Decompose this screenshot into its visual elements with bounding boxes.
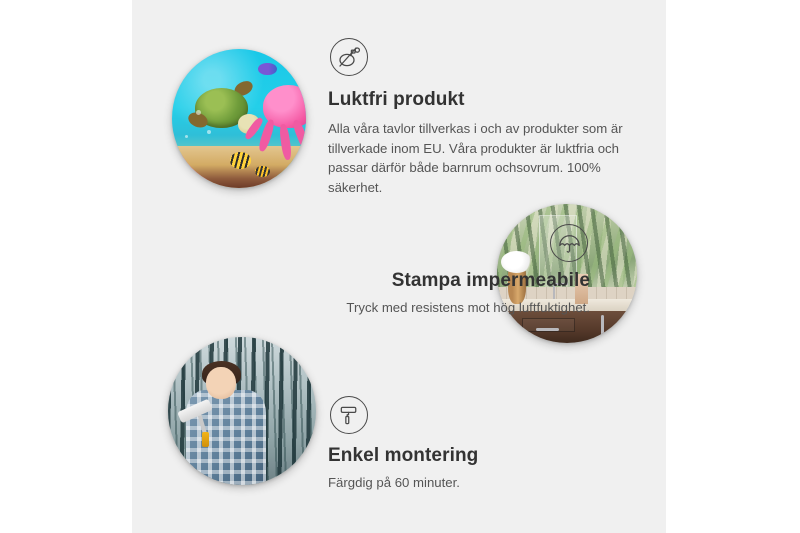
drawer-handle [536,328,558,331]
infographic-canvas: Luktfri produkt Alla våra tavlor tillver… [0,0,800,533]
feature-block-odorless: Luktfri produkt Alla våra tavlor tillver… [328,38,628,197]
feature-title: Enkel montering [328,445,608,467]
feature-title: Stampa impermeabile [212,270,590,292]
small-yellow-fish [255,166,270,177]
feature-description: Alla våra tavlor tillverkas i och av pro… [328,119,628,197]
painter-scene-art [168,337,316,485]
feature-block-easy-install: Enkel montering Färgdig på 60 minuter. [328,396,608,493]
feature-title: Luktfri produkt [328,89,628,111]
infographic-panel: Luktfri produkt Alla våra tavlor tillver… [132,0,666,533]
umbrella-icon [550,224,588,262]
bubble [207,130,211,134]
face [206,367,236,400]
no-odor-perfume-bottle-icon [330,38,368,76]
feature-description: Tryck med resistens mot hög luftfuktighe… [212,298,590,318]
feature-description: Färgdig på 60 minuter. [328,473,608,493]
paint-roller-icon [330,396,368,434]
purple-fish [258,63,277,76]
paint-roller-grip [202,432,209,447]
underwater-children-mural-thumbnail [172,49,306,188]
yellow-striped-fish [230,152,251,169]
cabinet-door-handle [601,315,605,337]
feature-block-waterproof: Stampa impermeabile Tryck med resistens … [212,224,590,318]
underwater-scene-art [172,49,306,188]
woman-paint-roller-forest-mural-thumbnail [168,337,316,485]
